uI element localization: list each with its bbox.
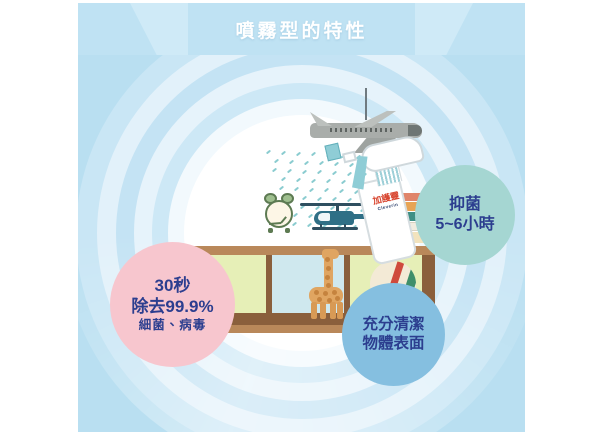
surface-clean-badge-line2: 物體表面	[362, 335, 424, 354]
efficacy-badge-line2: 除去99.9%	[131, 297, 213, 318]
efficacy-badge-line1: 30秒	[155, 276, 191, 297]
surface-clean-badge[interactable]: 充分清潔 物體表面	[342, 283, 445, 386]
alarm-clock-icon	[264, 193, 294, 231]
page-title: 噴霧型的特性	[78, 3, 525, 55]
surface-clean-badge-line1: 充分清潔	[362, 316, 424, 335]
antibacterial-badge-line1: 抑菌	[449, 195, 481, 215]
title-band: 噴霧型的特性	[78, 3, 525, 55]
efficacy-badge-line3: 細菌、病毒	[139, 318, 207, 333]
antibacterial-badge[interactable]: 抑菌 5~6小時	[415, 165, 515, 265]
antibacterial-badge-line2: 5~6小時	[435, 215, 494, 235]
efficacy-badge[interactable]: 30秒 除去99.9% 細菌、病毒	[110, 242, 235, 367]
infographic-canvas: 加護靈 Cleverin 噴霧型的特性 30秒 除去99.9% 細菌、病毒 抑菌…	[0, 0, 600, 432]
